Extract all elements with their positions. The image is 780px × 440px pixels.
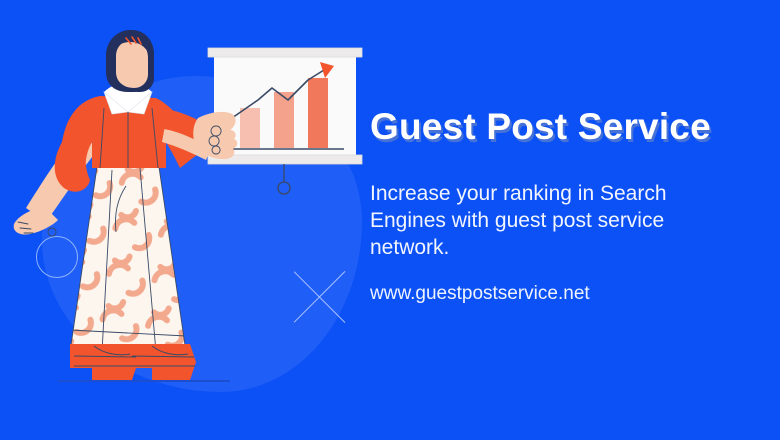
character-head xyxy=(106,30,154,92)
chart-bar-1 xyxy=(240,108,260,148)
chart-bar-2 xyxy=(274,92,294,148)
website-url: www.guestpostservice.net xyxy=(370,283,590,305)
chart-bar-3 xyxy=(308,78,328,148)
page-subtitle: Increase your ranking in Search Engines … xyxy=(370,180,742,261)
platform-shoes xyxy=(70,344,196,380)
character-figure xyxy=(14,30,238,381)
hero-illustration xyxy=(0,0,390,440)
text-column: Guest Post Service Increase your ranking… xyxy=(370,0,770,440)
banner-root: Guest Post Service Increase your ranking… xyxy=(0,0,780,440)
page-title: Guest Post Service xyxy=(370,106,711,148)
